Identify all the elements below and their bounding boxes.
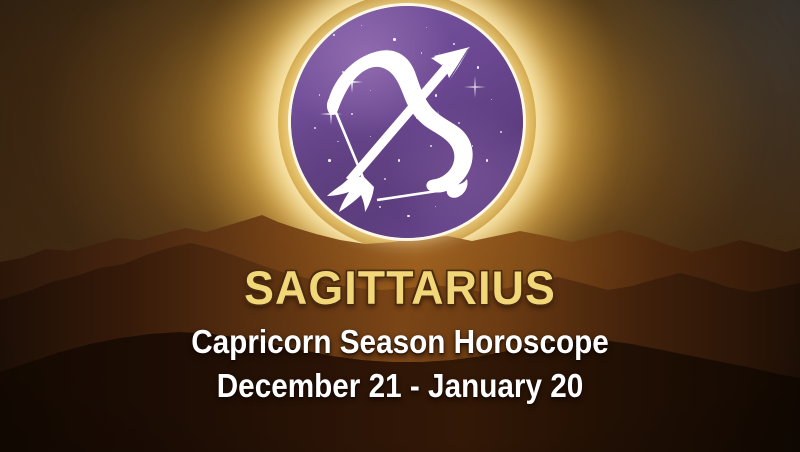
banner-text-block: SAGITTARIUS Capricorn Season Horoscope D… xyxy=(0,262,800,406)
season-subtitle: Capricorn Season Horoscope xyxy=(40,322,760,362)
page-title: SAGITTARIUS xyxy=(20,262,780,314)
zodiac-emblem xyxy=(291,6,523,238)
date-range: December 21 - January 20 xyxy=(40,366,760,406)
sagittarius-bow-and-arrow-glyph xyxy=(291,6,523,238)
sagittarius-horoscope-banner: SAGITTARIUS Capricorn Season Horoscope D… xyxy=(0,0,800,452)
starfield-disc xyxy=(291,6,523,238)
